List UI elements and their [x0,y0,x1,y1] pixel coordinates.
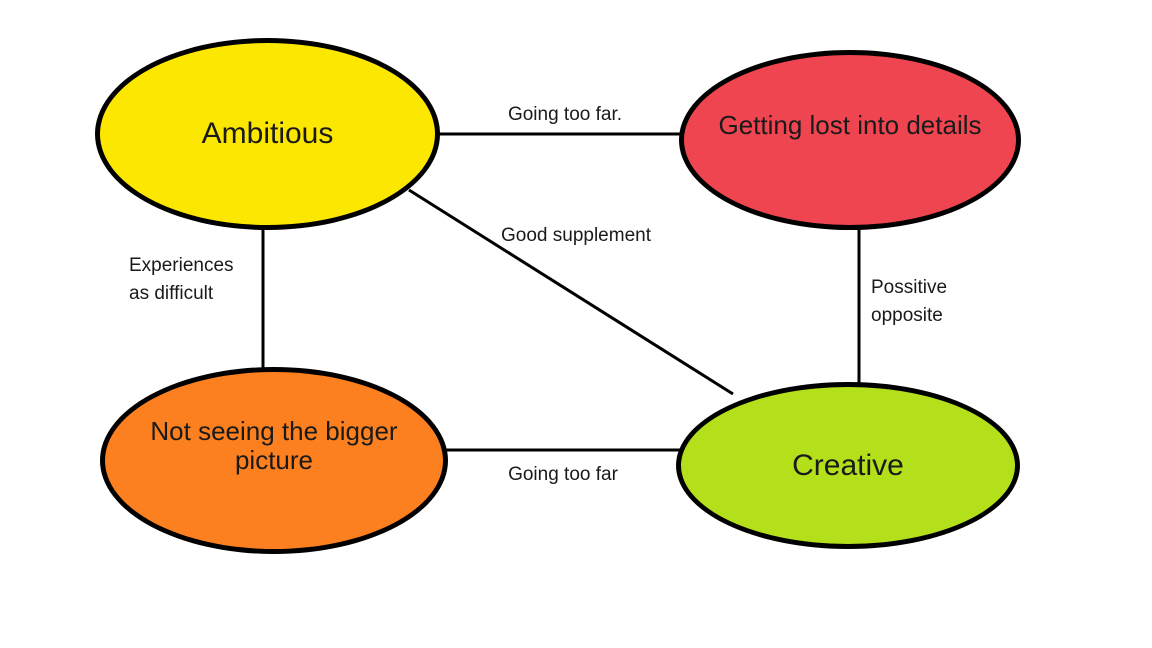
edge-label-good-supplement: Good supplement [501,222,751,250]
node-not-seeing-the-bigger-picture-label: Not seeing the bigger picture [105,417,443,475]
concept-map-diagram: Ambitious Getting lost into details Not … [0,0,1152,648]
edge-ambitious-creative [409,190,733,394]
edge-label-experiences-as-difficult: Experiences as difficult [129,252,269,307]
node-creative-label: Creative [778,449,918,483]
node-getting-lost-into-details-label: Getting lost into details [704,111,995,140]
edge-label-possitive-opposite: Possitive opposite [871,274,1011,329]
node-getting-lost-into-details[interactable]: Getting lost into details [679,50,1021,230]
node-ambitious-label: Ambitious [188,117,348,151]
node-ambitious[interactable]: Ambitious [95,38,440,230]
node-creative[interactable]: Creative [676,382,1020,549]
node-not-seeing-the-bigger-picture[interactable]: Not seeing the bigger picture [100,367,448,554]
edge-label-going-too-far-top: Going too far. [465,101,665,129]
edge-label-going-too-far-bottom: Going too far [455,461,671,489]
